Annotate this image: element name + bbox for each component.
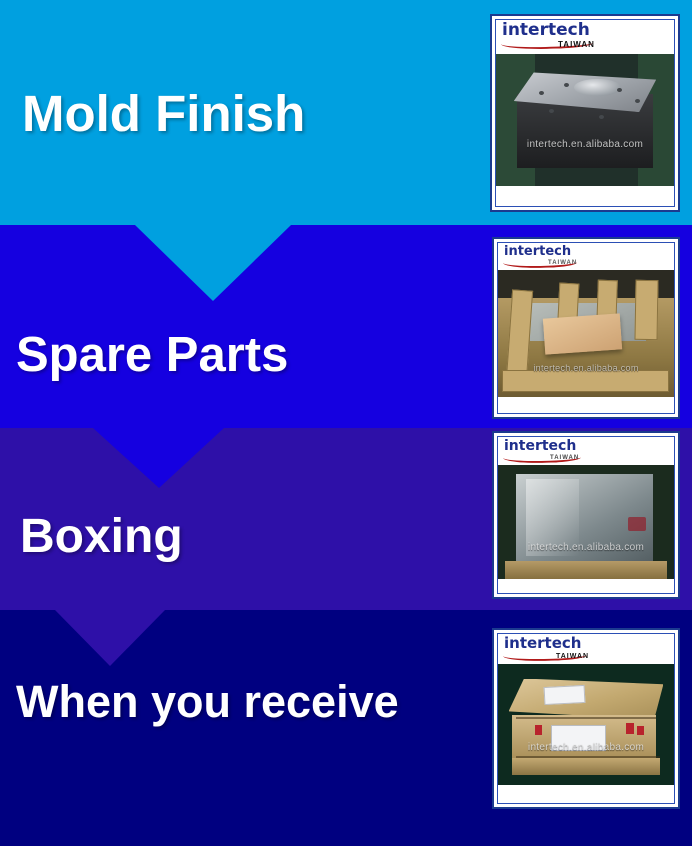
- red-seal-tag: [637, 726, 644, 736]
- crate-lid: [509, 679, 664, 720]
- logo-subtitle: TAIWAN: [558, 41, 595, 49]
- logo-subtitle: TAIWAN: [550, 455, 579, 461]
- thumbnail-footer: [496, 186, 674, 206]
- crate-seam: [516, 756, 660, 758]
- thumbnail-frame: intertech TAIWAN intertech.en.alibaba.co…: [497, 436, 675, 594]
- thumbnail-footer: [498, 785, 674, 803]
- band-title-when-you-receive: When you receive: [16, 679, 399, 724]
- thumbnail-frame: intertech TAIWAN inte: [495, 19, 675, 207]
- photo-mold-on-machine: intertech.en.alibaba.com: [496, 54, 674, 186]
- intertech-logo: intertech TAIWAN: [498, 437, 674, 465]
- thumbnail-frame: intertech TAIWAN intertech.en.alibaba.co…: [497, 242, 675, 414]
- shipping-label-top: [543, 685, 585, 705]
- photo-scene: [498, 270, 674, 397]
- logo-wordmark: intertech: [504, 245, 674, 258]
- photo-shrink-wrapped-mold: intertech.en.alibaba.com: [498, 465, 674, 579]
- thumbnail-footer: [498, 397, 674, 413]
- crate-seam: [516, 717, 657, 719]
- chevron-down-icon-3: [55, 610, 165, 666]
- photo-scene: [496, 54, 674, 186]
- photo-thumbnail-when-you-receive[interactable]: intertech TAIWAN intertech.en.al: [492, 628, 680, 809]
- intertech-logo: intertech TAIWAN: [498, 634, 674, 664]
- mold-sprue-disc: [574, 79, 620, 96]
- wooden-pallet: [505, 561, 667, 579]
- photo-thumbnail-spare-parts[interactable]: intertech TAIWAN intertech.en.alibaba.co…: [492, 237, 680, 419]
- thumbnail-footer: [498, 579, 674, 593]
- photo-export-crate: intertech.en.alibaba.com: [498, 664, 674, 785]
- crate-slat: [635, 280, 659, 341]
- logo-subtitle: TAIWAN: [556, 653, 589, 660]
- mold-bolt: [539, 91, 544, 95]
- photo-scene: [498, 664, 674, 785]
- photo-thumbnail-mold-finish[interactable]: intertech TAIWAN inte: [490, 14, 680, 212]
- intertech-logo: intertech TAIWAN: [498, 243, 674, 270]
- photo-thumbnail-boxing[interactable]: intertech TAIWAN intertech.en.alibaba.co…: [492, 431, 680, 599]
- band-title-spare-parts: Spare Parts: [16, 331, 288, 380]
- photo-spare-parts-crate: intertech.en.alibaba.com: [498, 270, 674, 397]
- red-marking: [628, 517, 646, 531]
- intertech-logo: intertech TAIWAN: [496, 20, 674, 54]
- chevron-down-icon-1: [135, 225, 291, 301]
- crate-rail: [502, 370, 669, 392]
- mold-bolt: [635, 99, 640, 103]
- band-title-boxing: Boxing: [20, 513, 183, 561]
- red-seal-tag: [535, 725, 542, 736]
- mold-bolt: [564, 83, 569, 87]
- photo-scene: [498, 465, 674, 579]
- crate-base: [512, 758, 660, 775]
- logo-subtitle: TAIWAN: [548, 260, 577, 266]
- band-title-mold-finish: Mold Finish: [22, 88, 305, 139]
- chevron-down-icon-2: [93, 428, 224, 488]
- logo-wordmark: intertech: [504, 439, 674, 453]
- shipping-label-side: [551, 725, 606, 751]
- packing-envelope: [543, 313, 623, 354]
- slide-canvas: Mold Finish Spare Parts Boxing When you …: [0, 0, 692, 846]
- plastic-sheen: [526, 479, 579, 557]
- thumbnail-frame: intertech TAIWAN intertech.en.al: [497, 633, 675, 804]
- red-seal-tag: [626, 723, 633, 734]
- logo-wordmark: intertech: [504, 636, 674, 651]
- mold-bolt: [599, 115, 604, 119]
